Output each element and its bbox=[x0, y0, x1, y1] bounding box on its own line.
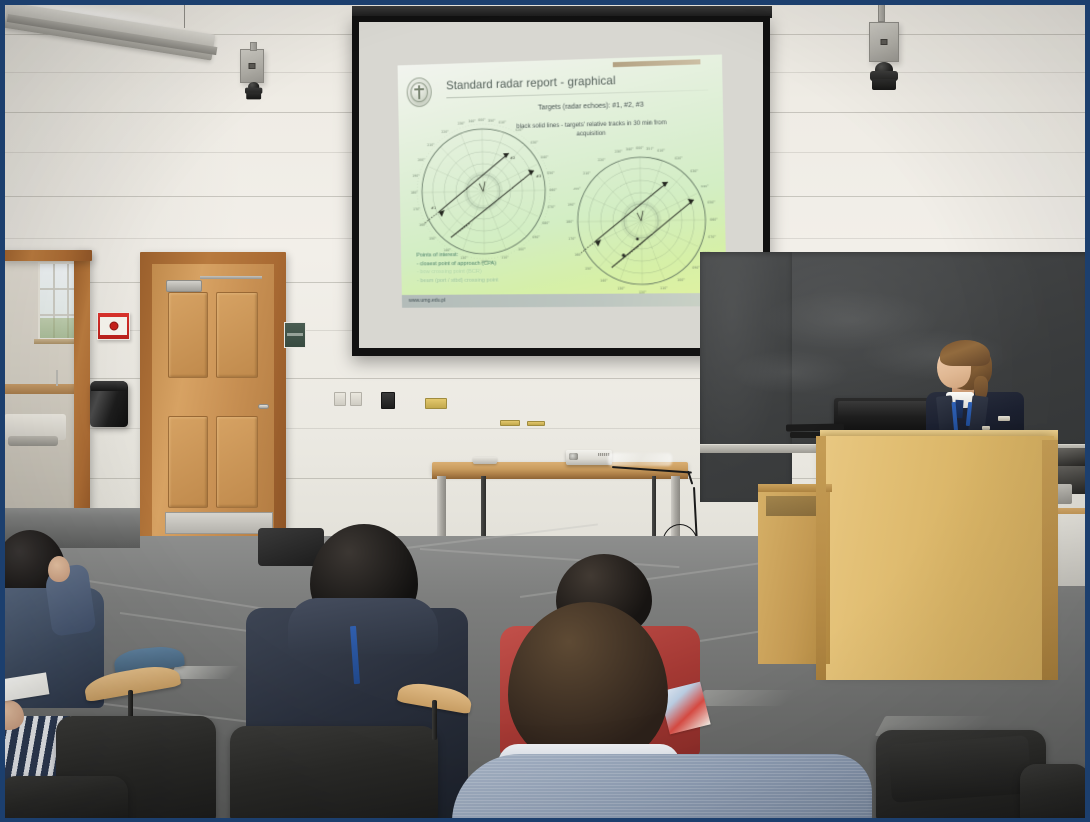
svg-text:060°: 060° bbox=[549, 188, 557, 192]
wall-plate-yellow bbox=[425, 398, 447, 409]
svg-text:110°: 110° bbox=[501, 256, 509, 260]
window-view-grass bbox=[40, 318, 78, 338]
svg-text:060°: 060° bbox=[710, 218, 718, 222]
room-sign bbox=[284, 322, 306, 348]
slide-footer-url: www.umg.edu.pl bbox=[409, 298, 446, 304]
wall-socket bbox=[334, 392, 346, 406]
svg-text:350°: 350° bbox=[488, 119, 496, 123]
svg-text:340°: 340° bbox=[626, 147, 634, 151]
photo-frame-top bbox=[0, 0, 1090, 5]
svg-text:180°: 180° bbox=[411, 191, 419, 195]
svg-text:010°: 010° bbox=[657, 149, 665, 153]
svg-text:040°: 040° bbox=[701, 184, 709, 188]
audience-member-4-body bbox=[452, 754, 872, 822]
podium-left-edge bbox=[816, 436, 826, 680]
podium-side-panel bbox=[1042, 440, 1058, 680]
presenter-epaulet bbox=[998, 416, 1010, 421]
slide-title: Standard radar report - graphical bbox=[446, 74, 616, 92]
chair-seat bbox=[888, 735, 1032, 803]
presenter-hair-top bbox=[940, 340, 990, 366]
svg-text:070°: 070° bbox=[548, 205, 556, 209]
door-closer-arm bbox=[200, 276, 262, 279]
table-leg bbox=[652, 476, 656, 544]
svg-text:230°: 230° bbox=[615, 149, 623, 153]
door-panel-upper-right bbox=[216, 292, 258, 378]
university-seal-logo bbox=[406, 77, 432, 107]
svg-text:230°: 230° bbox=[458, 121, 466, 125]
door-panel-lower-right bbox=[216, 416, 258, 508]
wall-mounted-bin bbox=[90, 381, 128, 427]
svg-text:040°: 040° bbox=[541, 155, 549, 159]
wall-junction-box bbox=[240, 49, 264, 83]
presenter-monitor bbox=[834, 398, 932, 434]
svg-text:200°: 200° bbox=[418, 158, 426, 162]
svg-text:000°: 000° bbox=[478, 118, 486, 122]
alcove-doorway-casing bbox=[74, 250, 90, 540]
svg-text:050°: 050° bbox=[708, 200, 716, 204]
wall-socket bbox=[350, 392, 362, 406]
junction-box-stem bbox=[250, 42, 257, 51]
svg-text:020°: 020° bbox=[516, 128, 524, 132]
svg-text:050°: 050° bbox=[547, 171, 555, 175]
svg-text:130°: 130° bbox=[617, 287, 625, 291]
chair-post bbox=[432, 700, 437, 740]
svg-text:160°: 160° bbox=[575, 253, 583, 257]
podium-inner-recess bbox=[766, 496, 820, 516]
photo-frame-right bbox=[1085, 0, 1090, 822]
svg-text:030°: 030° bbox=[690, 169, 698, 173]
wall-plate-yellow bbox=[500, 420, 520, 426]
lecture-hall-photo: Standard radar report - graphical Target… bbox=[0, 0, 1090, 822]
lectern-podium bbox=[824, 436, 1054, 680]
svg-text:090°: 090° bbox=[532, 235, 540, 239]
door-handle[interactable] bbox=[258, 404, 269, 409]
alcove-doorway-header bbox=[0, 250, 92, 261]
fire-equipment-sign bbox=[97, 312, 130, 340]
lecture-chair[interactable] bbox=[230, 726, 438, 822]
wall-junction-box bbox=[869, 22, 899, 62]
alcove-basin-lower bbox=[8, 436, 58, 446]
svg-text:160°: 160° bbox=[419, 223, 427, 227]
slide-accent-bar bbox=[613, 59, 701, 67]
photo-frame-left bbox=[0, 0, 5, 822]
svg-text:030°: 030° bbox=[531, 140, 539, 144]
svg-text:220°: 220° bbox=[441, 130, 449, 134]
svg-text:190°: 190° bbox=[412, 174, 420, 178]
alcove-counter bbox=[0, 384, 82, 394]
slide-subheading-line2: acquisition bbox=[576, 130, 605, 138]
slide-footer: www.umg.edu.pl 1/23 bbox=[402, 293, 727, 308]
svg-text:170°: 170° bbox=[413, 207, 421, 211]
svg-text:010°: 010° bbox=[499, 120, 507, 124]
svg-text:020°: 020° bbox=[675, 156, 683, 160]
door-panel-lower-left bbox=[168, 416, 208, 508]
svg-text:340°: 340° bbox=[468, 119, 476, 123]
wall-plate-yellow bbox=[527, 421, 545, 426]
lecture-chair[interactable] bbox=[0, 776, 128, 822]
svg-text:#2: #2 bbox=[510, 156, 515, 160]
door-panel-upper-left bbox=[168, 292, 208, 378]
svg-text:070°: 070° bbox=[708, 235, 716, 239]
slide-heading: Targets (radar echoes): #1, #2, #3 bbox=[538, 102, 644, 112]
svg-text:210°: 210° bbox=[427, 143, 435, 147]
svg-text:#1: #1 bbox=[431, 206, 436, 210]
svg-text:100°: 100° bbox=[518, 247, 526, 251]
svg-text:110°: 110° bbox=[660, 286, 668, 290]
wall-data-port bbox=[381, 392, 395, 409]
svg-text:220°: 220° bbox=[598, 158, 606, 162]
radar-plot-right: 000°010°020° 030°040°050° 060°070°080° 0… bbox=[563, 142, 720, 298]
svg-text:080°: 080° bbox=[542, 221, 550, 225]
svg-text:190°: 190° bbox=[568, 203, 576, 207]
audience-member-2-hood bbox=[288, 598, 438, 654]
bullet-item-2: - beam (port / stbd) crossing point bbox=[417, 276, 498, 285]
radar-plot-left: 000°010°020° 030°040°050° 060°070°080° 0… bbox=[408, 112, 559, 265]
svg-text:140°: 140° bbox=[600, 279, 608, 283]
projector bbox=[566, 450, 612, 465]
svg-text:210°: 210° bbox=[583, 171, 591, 175]
ptz-camera bbox=[245, 82, 262, 101]
ptz-camera bbox=[870, 62, 898, 92]
svg-text:150°: 150° bbox=[585, 267, 593, 271]
svg-text:100°: 100° bbox=[677, 278, 685, 282]
svg-text:170°: 170° bbox=[568, 237, 576, 241]
svg-text:#3: #3 bbox=[536, 174, 541, 178]
door-kickplate bbox=[165, 512, 273, 534]
photo-frame-bottom bbox=[0, 818, 1090, 822]
door-closer bbox=[166, 280, 202, 292]
points-of-interest-list: Points of interest: - closest point of a… bbox=[416, 251, 498, 286]
svg-text:000°: 000° bbox=[636, 146, 644, 150]
svg-text:150°: 150° bbox=[429, 237, 437, 241]
plastic-sheet bbox=[608, 453, 672, 466]
svg-text:180°: 180° bbox=[566, 220, 574, 224]
floor-light-reflection bbox=[169, 666, 252, 679]
lecture-chair[interactable] bbox=[1020, 764, 1090, 822]
presentation-slide: Standard radar report - graphical Target… bbox=[398, 54, 727, 307]
svg-text:200°: 200° bbox=[573, 187, 581, 191]
svg-text:350°: 350° bbox=[646, 147, 654, 151]
alcove-tap bbox=[56, 370, 58, 386]
equipment-table-edge bbox=[432, 473, 688, 479]
audience-member-1-hand bbox=[48, 556, 70, 582]
floor-light-reflection bbox=[696, 690, 815, 706]
small-device-on-table bbox=[473, 457, 497, 464]
